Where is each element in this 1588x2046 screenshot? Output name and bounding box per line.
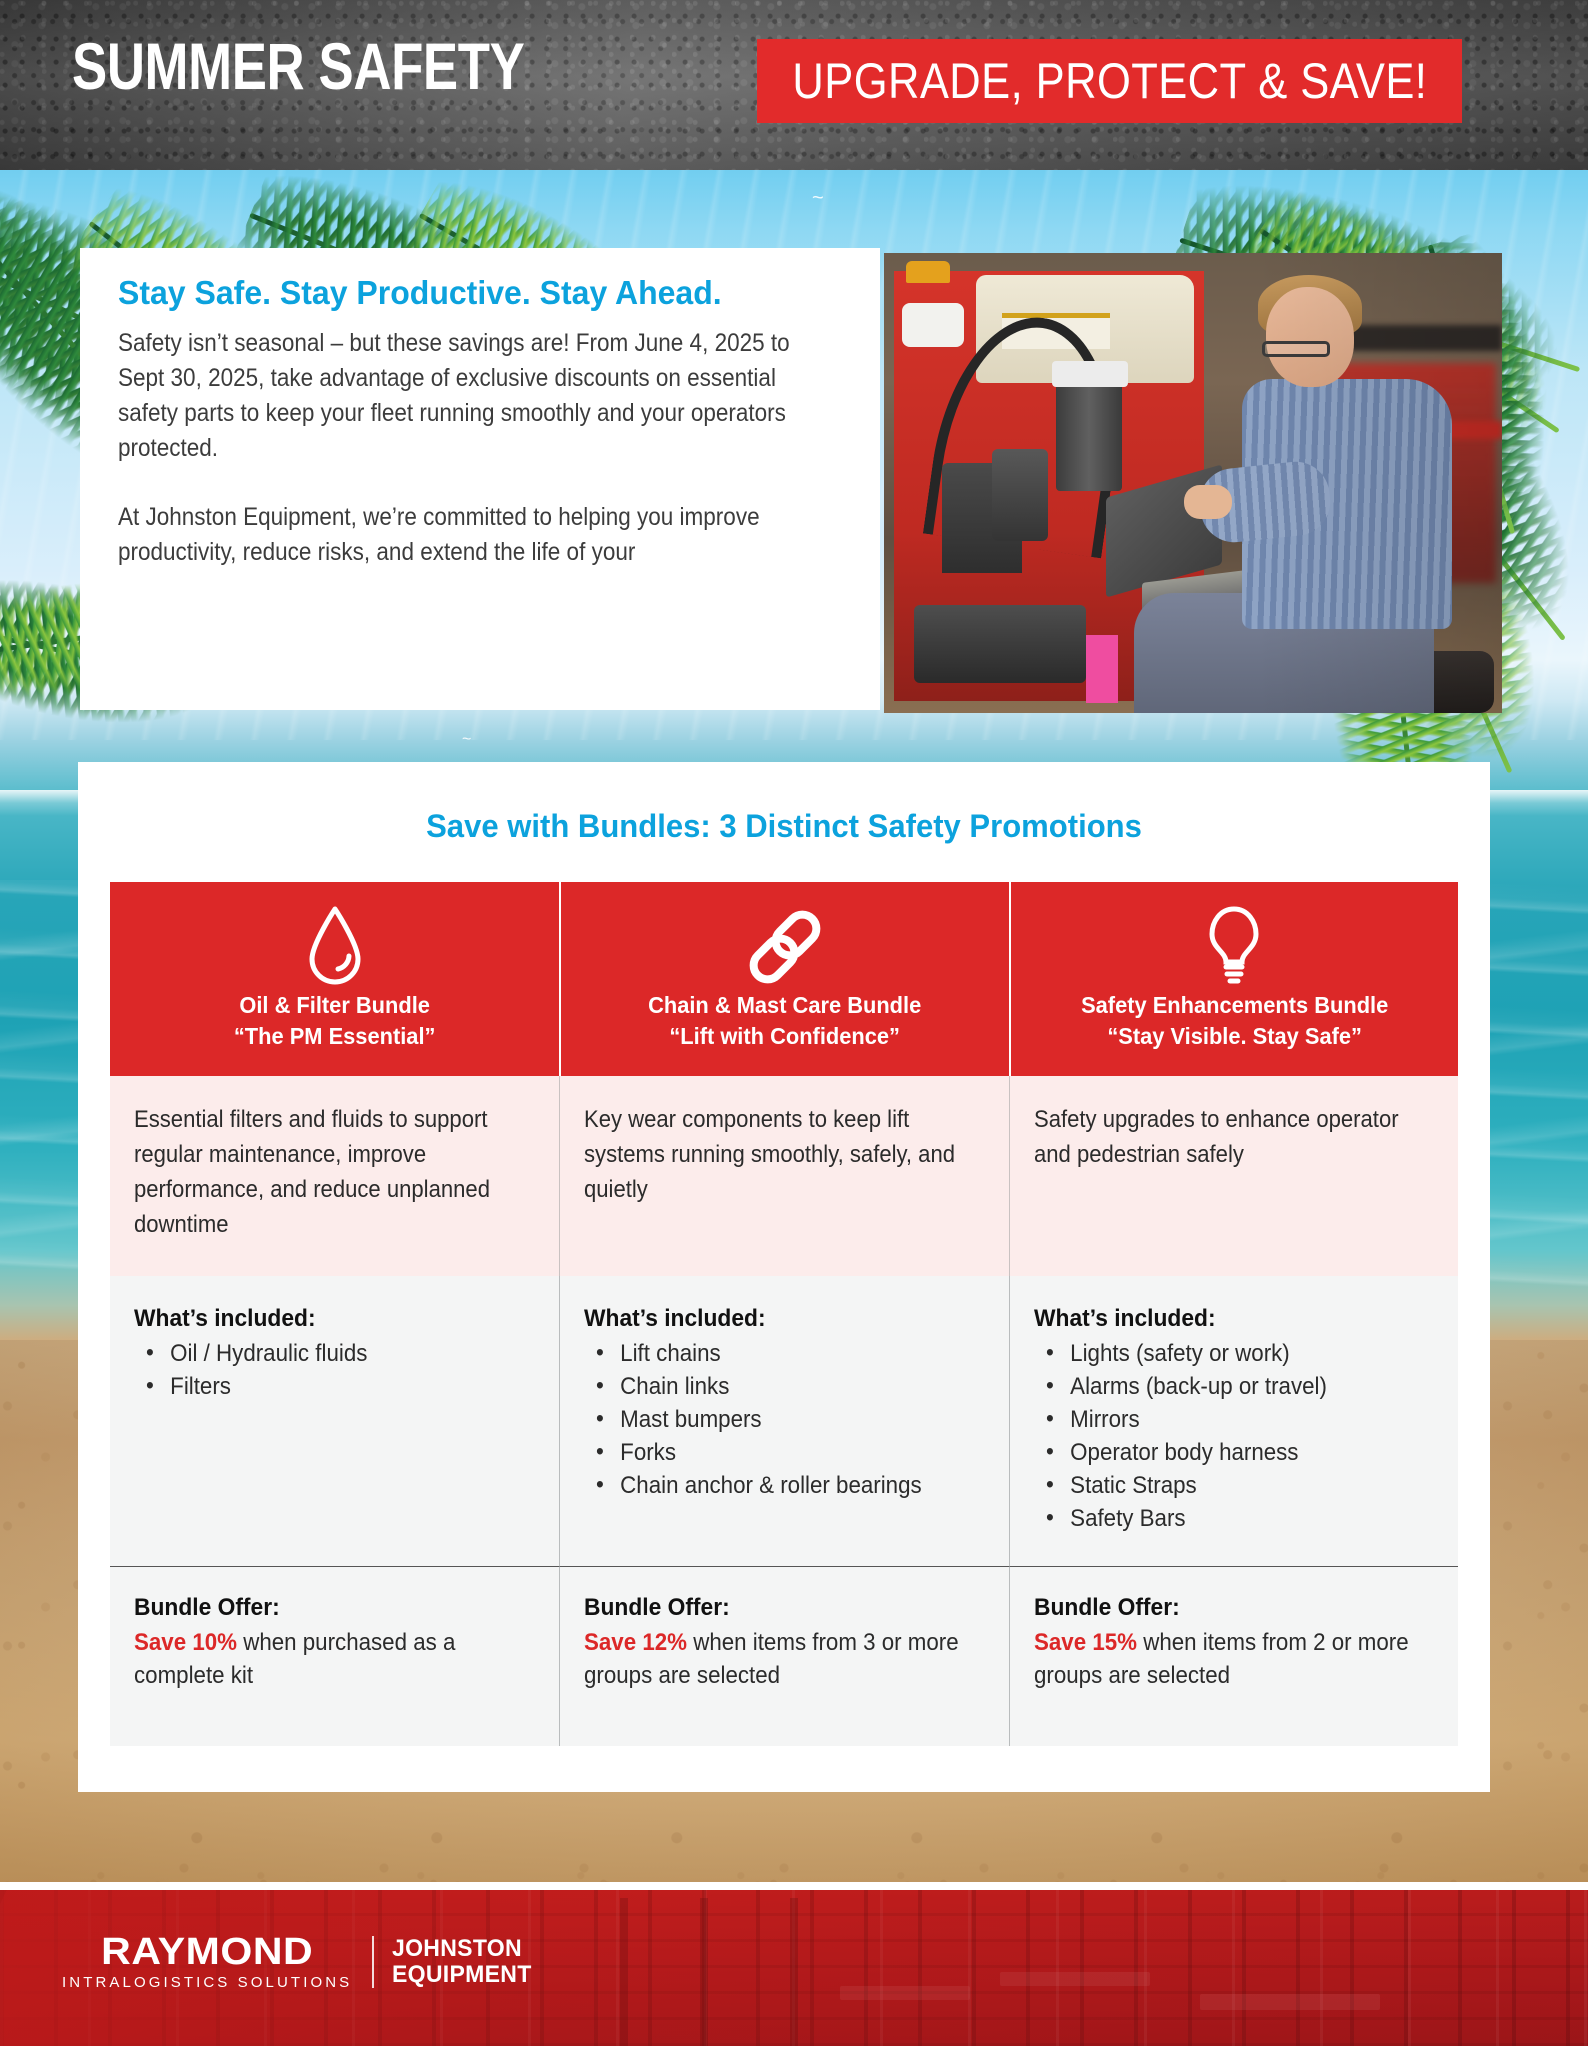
- bundle-description-cell: Safety upgrades to enhance operator and …: [1009, 1076, 1458, 1276]
- raymond-brand-block: RAYMOND INTRALOGISTICS SOLUTIONS: [62, 1932, 352, 1991]
- list-item: Filters: [146, 1370, 508, 1403]
- list-item: Safety Bars: [1046, 1502, 1407, 1535]
- footer-pallet: [1200, 1994, 1380, 2010]
- bundle-header-chain-mast: Chain & Mast Care Bundle “Lift with Conf…: [559, 882, 1008, 1076]
- seagull-icon: ~: [812, 188, 824, 208]
- bundle-description-cell: Key wear components to keep lift systems…: [559, 1076, 1008, 1276]
- raymond-logo: RAYMOND INTRALOGISTICS SOLUTIONS JOHNSTO…: [62, 1932, 538, 1991]
- list-item: Alarms (back-up or travel): [1046, 1370, 1407, 1403]
- bundle-title: Chain & Mast Care Bundle: [588, 990, 983, 1021]
- offer-body: Save 15% when items from 2 or more group…: [1034, 1626, 1436, 1692]
- included-label: What’s included:: [584, 1302, 964, 1335]
- photo-technician-hand: [1184, 485, 1232, 519]
- bundle-subtitle: “The PM Essential”: [136, 1021, 532, 1052]
- bundle-description: Key wear components to keep lift systems…: [584, 1102, 982, 1207]
- intro-paragraph-2: At Johnston Equipment, we’re committed t…: [118, 500, 838, 570]
- header-tagline-text: UPGRADE, PROTECT & SAVE!: [792, 52, 1427, 110]
- bundle-description-cell: Essential filters and fluids to support …: [110, 1076, 559, 1276]
- bundle-included-cell: What’s included: Lights (safety or work)…: [1009, 1276, 1458, 1566]
- intro-body: Safety isn’t seasonal – but these saving…: [118, 326, 838, 570]
- list-item: Oil / Hydraulic fluids: [146, 1337, 508, 1370]
- list-item: Operator body harness: [1046, 1436, 1407, 1469]
- photo-truck-base: [914, 605, 1086, 683]
- footer-pallet: [1000, 1972, 1150, 1986]
- list-item: Mast bumpers: [596, 1403, 957, 1436]
- bundle-included-cell: What’s included: Lift chainsChain linksM…: [559, 1276, 1008, 1566]
- photo-pink-tag: [1086, 635, 1118, 703]
- dealer-name-line1: JOHNSTON: [392, 1936, 532, 1962]
- included-label: What’s included:: [1034, 1302, 1414, 1335]
- offer-body: Save 10% when purchased as a complete ki…: [134, 1626, 537, 1692]
- page-title: SUMMER SAFETY: [72, 28, 524, 104]
- list-item: Chain anchor & roller bearings: [596, 1469, 957, 1502]
- footer-rack: [620, 1898, 628, 2046]
- photo-technician-glasses: [1262, 341, 1330, 357]
- page-header: SUMMER SAFETY UPGRADE, PROTECT & SAVE!: [0, 0, 1588, 170]
- bundles-card: Save with Bundles: 3 Distinct Safety Pro…: [78, 762, 1490, 1792]
- intro-heading: Stay Safe. Stay Productive. Stay Ahead.: [118, 274, 722, 312]
- included-list: Lift chainsChain linksMast bumpersForksC…: [584, 1337, 984, 1502]
- dealer-name: JOHNSTON EQUIPMENT: [392, 1936, 532, 1988]
- offer-label: Bundle Offer:: [1034, 1591, 1414, 1624]
- photo-white-roller: [902, 303, 964, 347]
- bundle-offer-cell: Bundle Offer: Save 15% when items from 2…: [1009, 1566, 1458, 1746]
- bundle-subtitle: “Lift with Confidence”: [588, 1021, 983, 1052]
- droplet-icon: [126, 904, 543, 990]
- logo-divider: [372, 1936, 374, 1988]
- bundle-description: Essential filters and fluids to support …: [134, 1102, 533, 1242]
- dealer-name-line2: EQUIPMENT: [392, 1962, 532, 1988]
- raymond-tagline: INTRALOGISTICS SOLUTIONS: [62, 1974, 352, 1991]
- bundles-heading: Save with Bundles: 3 Distinct Safety Pro…: [99, 808, 1469, 845]
- lightbulb-icon: [1027, 904, 1442, 990]
- footer-rack: [790, 1898, 798, 2046]
- bundle-header-safety-enhancements: Safety Enhancements Bundle “Stay Visible…: [1009, 882, 1458, 1076]
- included-list: Oil / Hydraulic fluidsFilters: [134, 1337, 535, 1403]
- bundle-offer-cell: Bundle Offer: Save 12% when items from 3…: [559, 1566, 1008, 1746]
- technician-photo: [884, 253, 1502, 713]
- chain-link-icon: [577, 904, 992, 990]
- bundle-title: Safety Enhancements Bundle: [1037, 990, 1432, 1021]
- list-item: Lights (safety or work): [1046, 1337, 1407, 1370]
- offer-body: Save 12% when items from 3 or more group…: [584, 1626, 986, 1692]
- list-item: Mirrors: [1046, 1403, 1407, 1436]
- photo-motor: [1056, 371, 1122, 491]
- list-item: Forks: [596, 1436, 957, 1469]
- offer-label: Bundle Offer:: [134, 1591, 515, 1624]
- raymond-wordmark: RAYMOND: [101, 1932, 313, 1972]
- list-item: Lift chains: [596, 1337, 957, 1370]
- footer-pallet: [840, 1986, 970, 2000]
- offer-savings-amount: Save 12%: [584, 1629, 687, 1656]
- offer-label: Bundle Offer:: [584, 1591, 964, 1624]
- included-label: What’s included:: [134, 1302, 515, 1335]
- included-list: Lights (safety or work)Alarms (back-up o…: [1034, 1337, 1434, 1535]
- header-tagline-banner: UPGRADE, PROTECT & SAVE!: [757, 39, 1462, 123]
- list-item: Chain links: [596, 1370, 957, 1403]
- photo-motor-cap: [1052, 361, 1128, 387]
- intro-card: Stay Safe. Stay Productive. Stay Ahead. …: [80, 248, 880, 710]
- list-item: Static Straps: [1046, 1469, 1407, 1502]
- seagull-icon: ~: [462, 732, 471, 748]
- bundle-description: Safety upgrades to enhance operator and …: [1034, 1102, 1432, 1172]
- page-footer: RAYMOND INTRALOGISTICS SOLUTIONS JOHNSTO…: [0, 1890, 1588, 2046]
- photo-technician-head: [1266, 287, 1354, 387]
- offer-savings-amount: Save 15%: [1034, 1629, 1137, 1656]
- flyer-page: ~ ~ SUMMER SAFETY UPGRADE, PROTECT & SAV…: [0, 0, 1588, 2046]
- bundle-offer-cell: Bundle Offer: Save 10% when purchased as…: [110, 1566, 559, 1746]
- bundle-title: Oil & Filter Bundle: [136, 990, 532, 1021]
- offer-savings-amount: Save 10%: [134, 1629, 237, 1656]
- bundles-table: Oil & Filter Bundle “The PM Essential” C…: [110, 882, 1458, 1746]
- photo-pump-secondary: [992, 449, 1048, 541]
- bundle-included-cell: What’s included: Oil / Hydraulic fluidsF…: [110, 1276, 559, 1566]
- intro-paragraph-1: Safety isn’t seasonal – but these saving…: [118, 326, 838, 466]
- bundle-header-oil-filter: Oil & Filter Bundle “The PM Essential”: [110, 882, 559, 1076]
- footer-rack: [700, 1898, 708, 2046]
- bundle-subtitle: “Stay Visible. Stay Safe”: [1037, 1021, 1432, 1052]
- photo-amber-beacon: [906, 261, 950, 283]
